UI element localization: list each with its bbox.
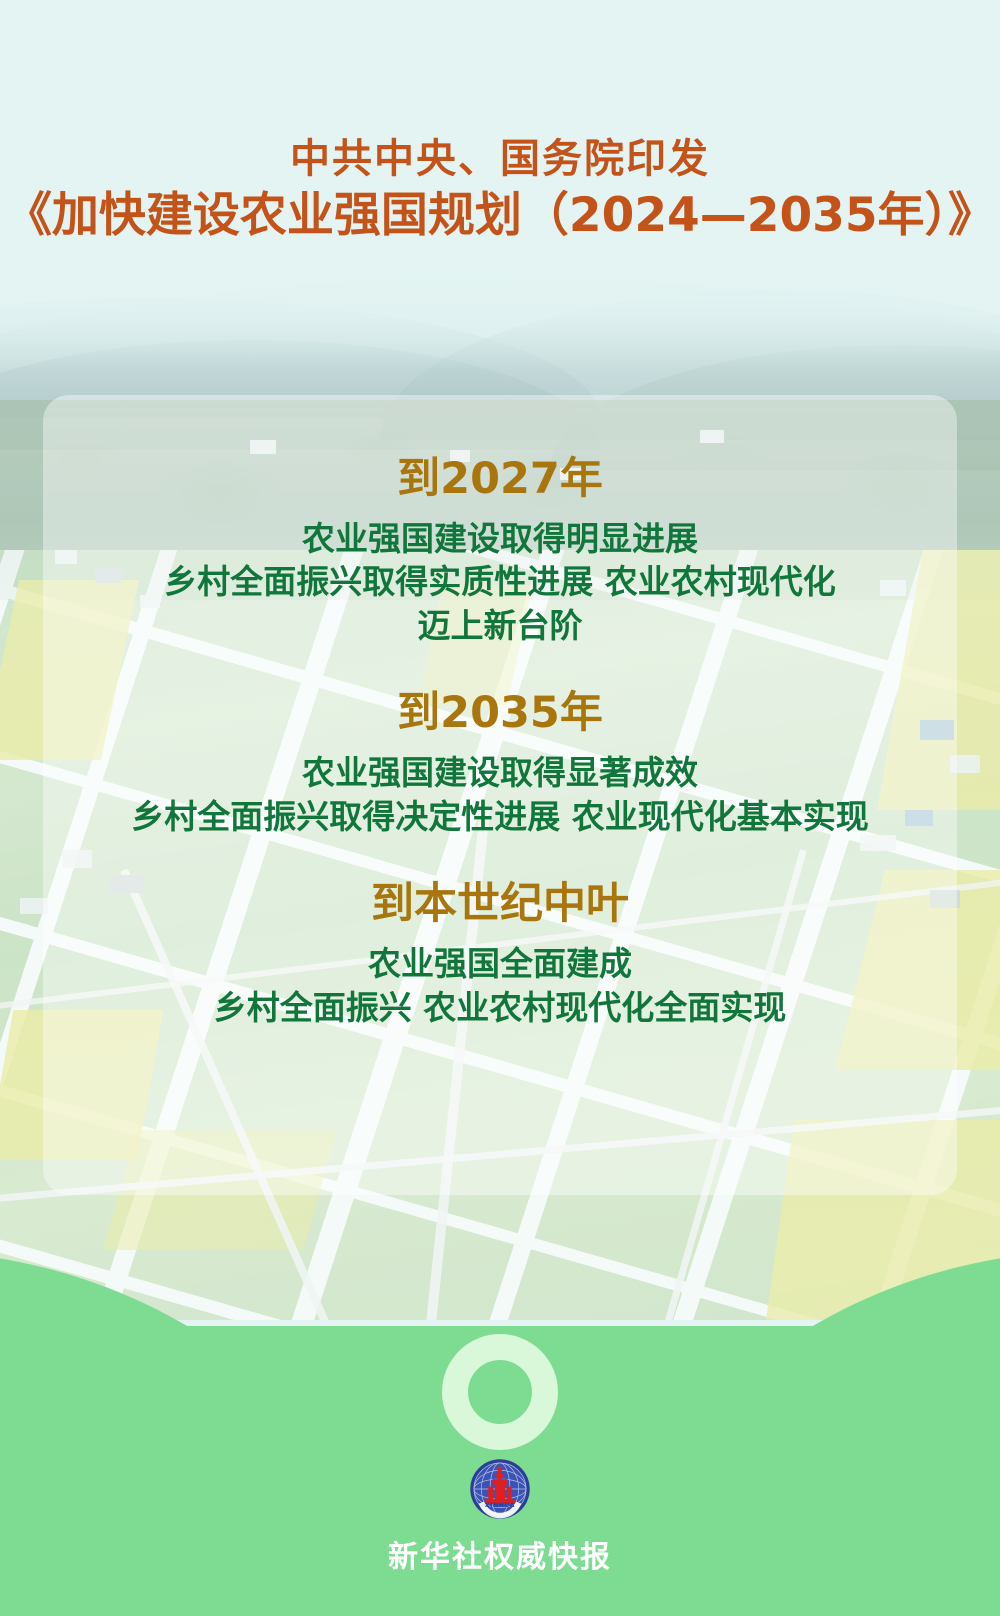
decorative-ring [442,1334,558,1450]
milestone-line: 乡村全面振兴取得实质性进展 农业农村现代化 [0,560,1000,604]
milestone-block-2027: 到2027年 农业强国建设取得明显进展 乡村全面振兴取得实质性进展 农业农村现代… [0,453,1000,647]
svg-text:XINHUA: XINHUA [485,1503,515,1509]
milestone-line: 乡村全面振兴取得决定性进展 农业现代化基本实现 [0,795,1000,839]
milestone-line: 农业强国全面建成 [0,942,1000,986]
milestone-block-mid-century: 到本世纪中叶 农业强国全面建成 乡村全面振兴 农业农村现代化全面实现 [0,878,1000,1029]
milestone-line: 农业强国建设取得明显进展 [0,517,1000,561]
milestone-block-2035: 到2035年 农业强国建设取得显著成效 乡村全面振兴取得决定性进展 农业现代化基… [0,687,1000,838]
milestone-line: 农业强国建设取得显著成效 [0,751,1000,795]
poster-root: 中共中央、国务院印发 《加快建设农业强国规划（2024—2035年）》 到202… [0,0,1000,1616]
poster-footer: XINHUA 新华社权威快报 [0,1458,1000,1576]
poster-header: 中共中央、国务院印发 《加快建设农业强国规划（2024—2035年）》 [0,0,1000,250]
milestone-title: 到2035年 [0,687,1000,741]
xinhua-logo-icon: XINHUA [469,1458,531,1520]
page-title: 《加快建设农业强国规划（2024—2035年）》 [5,188,995,244]
milestone-list: 到2027年 农业强国建设取得明显进展 乡村全面振兴取得实质性进展 农业农村现代… [0,395,1000,1195]
issuer-line: 中共中央、国务院印发 [290,136,710,182]
milestone-title: 到本世纪中叶 [0,878,1000,932]
milestone-title: 到2027年 [0,453,1000,507]
photo-top-fade [0,250,1000,370]
footer-caption: 新华社权威快报 [388,1532,612,1576]
milestone-line: 迈上新台阶 [0,604,1000,648]
milestone-line: 乡村全面振兴 农业农村现代化全面实现 [0,986,1000,1030]
